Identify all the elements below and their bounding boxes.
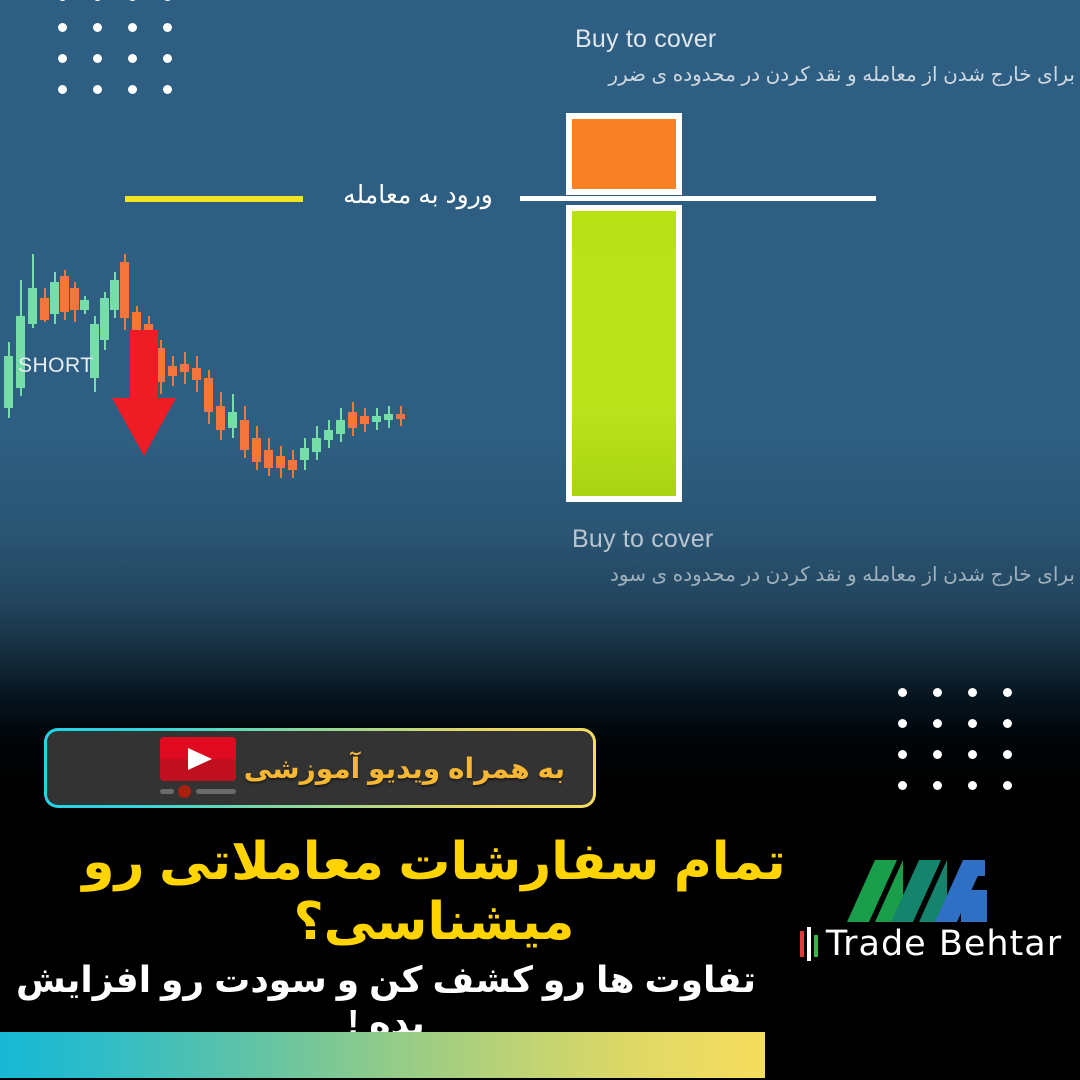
youtube-play-icon[interactable]: [152, 737, 244, 799]
candle-22: [240, 120, 249, 500]
decor-dot: [968, 688, 977, 697]
down-arrow-icon: [110, 330, 178, 460]
candle-17: [180, 120, 189, 500]
candle-7: [70, 120, 79, 500]
candle-body: [40, 298, 49, 320]
decor-dot: [898, 688, 907, 697]
decor-dot: [968, 719, 977, 728]
logo-candles-icon: [798, 927, 824, 961]
entry-line-white: [520, 196, 876, 201]
candle-body: [372, 416, 381, 422]
candle-body: [348, 412, 357, 428]
caption-stop-loss-fa: برای خارج شدن از معامله و نقد کردن در مح…: [575, 62, 1075, 87]
decor-dot: [93, 0, 102, 1]
candle-6: [60, 120, 69, 500]
decor-dot: [58, 85, 67, 94]
candle-2: [16, 120, 25, 500]
decor-dot: [163, 85, 172, 94]
decor-dot: [128, 54, 137, 63]
decor-dot: [93, 54, 102, 63]
candle-body: [70, 288, 79, 310]
decor-dot: [933, 719, 942, 728]
decor-dot: [933, 781, 942, 790]
candle-3: [28, 120, 37, 500]
candle-5: [50, 120, 59, 500]
m-logo-icon: [847, 860, 1017, 922]
candle-body: [192, 368, 201, 380]
stop-loss-bar: [566, 113, 682, 195]
candle-body: [60, 276, 69, 312]
caption-take-profit-fa: برای خارج شدن از معامله و نقد کردن در مح…: [540, 562, 1075, 587]
decor-dot: [968, 781, 977, 790]
decor-dot: [933, 750, 942, 759]
candle-body: [252, 438, 261, 462]
candle-body: [384, 414, 393, 420]
entry-line-yellow: [125, 196, 303, 202]
candle-body: [100, 298, 109, 340]
decor-dot: [1003, 781, 1012, 790]
candle-body: [216, 406, 225, 430]
progress-knob: [178, 785, 191, 798]
decor-dot: [128, 85, 137, 94]
decor-dot: [93, 85, 102, 94]
candle-26: [288, 120, 297, 500]
candle-body: [240, 420, 249, 450]
candle-body: [300, 448, 309, 460]
candle-28: [312, 120, 321, 500]
candle-body: [80, 300, 89, 310]
candle-body: [132, 312, 141, 332]
caption-take-profit-en: Buy to cover: [572, 525, 1075, 554]
candle-body: [204, 378, 213, 412]
candle-10: [100, 120, 109, 500]
decor-dot: [163, 23, 172, 32]
video-cta-button[interactable]: به همراه ویدیو آموزشی: [44, 728, 596, 808]
short-label: SHORT: [18, 354, 94, 378]
candle-20: [216, 120, 225, 500]
candle-body: [228, 412, 237, 428]
decor-dot: [898, 750, 907, 759]
decor-dot: [58, 54, 67, 63]
decor-dot: [933, 688, 942, 697]
candle-body: [276, 456, 285, 468]
decor-dot: [128, 23, 137, 32]
brand-logo: Trade Behtar: [795, 860, 1065, 970]
candlestick-chart: [0, 120, 440, 500]
candle-4: [40, 120, 49, 500]
candle-33: [372, 120, 381, 500]
candle-21: [228, 120, 237, 500]
candle-8: [80, 120, 89, 500]
poster-canvas: ورود به معامله SHORT Buy to cover برای خ…: [0, 0, 1080, 1080]
candle-30: [336, 120, 345, 500]
decor-dot: [1003, 750, 1012, 759]
bottom-accent-bar: [0, 1032, 765, 1078]
candle-body: [312, 438, 321, 452]
decor-dot: [1003, 719, 1012, 728]
decor-dot: [163, 0, 172, 1]
candle-body: [360, 416, 369, 424]
headline-primary: تمام سفارشات معاملاتی رو میشناسی؟: [0, 833, 868, 953]
candle-24: [264, 120, 273, 500]
candle-body: [264, 450, 273, 468]
caption-stop-loss-en: Buy to cover: [575, 25, 1075, 54]
decor-dot: [163, 54, 172, 63]
candle-23: [252, 120, 261, 500]
video-cta-label: به همراه ویدیو آموزشی: [244, 752, 565, 785]
candle-31: [348, 120, 357, 500]
decor-dot: [93, 23, 102, 32]
dot-grid-bottom-right: [898, 688, 1012, 790]
candle-29: [324, 120, 333, 500]
decor-dot: [968, 750, 977, 759]
decor-dot: [1003, 688, 1012, 697]
candle-body: [120, 262, 129, 318]
decor-dot: [898, 719, 907, 728]
candle-35: [396, 120, 405, 500]
entry-label: ورود به معامله: [318, 180, 518, 210]
candle-body: [336, 420, 345, 434]
candle-body: [4, 356, 13, 408]
progress-track-left: [160, 789, 174, 794]
dot-grid-top-left: [58, 0, 172, 94]
candle-body: [50, 282, 59, 314]
candle-32: [360, 120, 369, 500]
caption-stop-loss: Buy to cover برای خارج شدن از معامله و ن…: [575, 25, 1075, 87]
candle-body: [110, 280, 119, 310]
decor-dot: [128, 0, 137, 1]
candle-27: [300, 120, 309, 500]
candle-19: [204, 120, 213, 500]
decor-dot: [58, 23, 67, 32]
candle-body: [396, 414, 405, 419]
caption-take-profit: Buy to cover برای خارج شدن از معامله و ن…: [540, 525, 1075, 587]
candle-body: [180, 364, 189, 372]
play-triangle-icon: [188, 748, 212, 770]
take-profit-bar: [566, 205, 682, 502]
video-cta-inner[interactable]: به همراه ویدیو آموزشی: [47, 731, 593, 805]
decor-dot: [58, 0, 67, 1]
candle-body: [28, 288, 37, 324]
candle-34: [384, 120, 393, 500]
candle-9: [90, 120, 99, 500]
progress-track-right: [196, 789, 236, 794]
candle-1: [4, 120, 13, 500]
candle-18: [192, 120, 201, 500]
decor-dot: [898, 781, 907, 790]
brand-name: Trade Behtar: [826, 924, 1062, 964]
candle-25: [276, 120, 285, 500]
brand-wordmark: Trade Behtar: [795, 922, 1065, 966]
candle-body: [324, 430, 333, 440]
candle-body: [288, 460, 297, 470]
